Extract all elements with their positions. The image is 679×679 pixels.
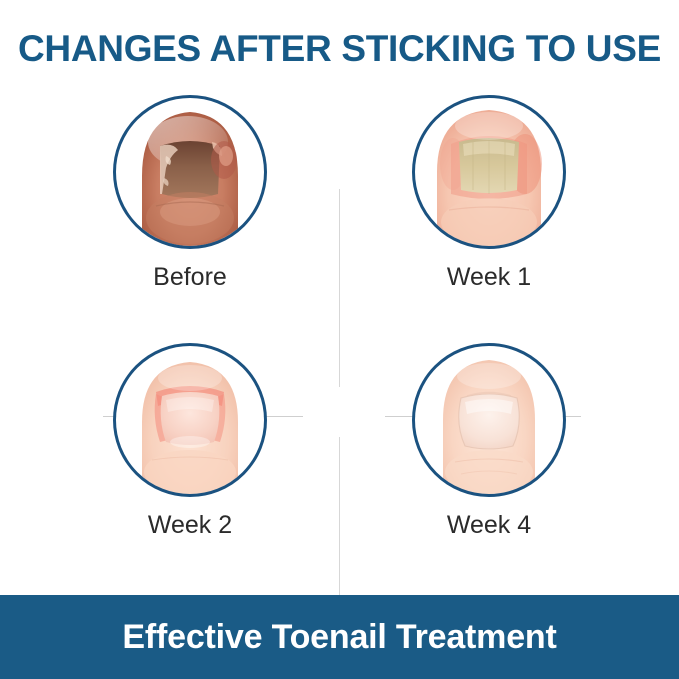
promo-infographic: CHANGES AFTER STICKING TO USE — [0, 0, 679, 679]
bottom-banner: Effective Toenail Treatment — [0, 595, 679, 679]
panel-week-1: Week 1 — [339, 92, 639, 320]
photo-circle-week-4 — [412, 343, 566, 497]
banner-headline: Effective Toenail Treatment — [122, 618, 556, 657]
photo-circle-before — [113, 95, 267, 249]
photo-circle-week-2 — [113, 343, 267, 497]
panel-week-2: Week 2 — [40, 340, 340, 568]
panel-week-4: Week 4 — [339, 340, 639, 568]
page-title: CHANGES AFTER STICKING TO USE — [0, 26, 679, 72]
label-week-4: Week 4 — [339, 510, 639, 540]
panel-before: Before — [40, 92, 340, 320]
circle-outline-before — [113, 95, 267, 249]
circle-outline-week-2 — [113, 343, 267, 497]
circle-outline-week-4 — [412, 343, 566, 497]
photo-circle-week-1 — [412, 95, 566, 249]
label-before: Before — [40, 262, 340, 292]
circle-outline-week-1 — [412, 95, 566, 249]
label-week-1: Week 1 — [339, 262, 639, 292]
label-week-2: Week 2 — [40, 510, 340, 540]
progress-gallery: Before — [0, 92, 679, 562]
